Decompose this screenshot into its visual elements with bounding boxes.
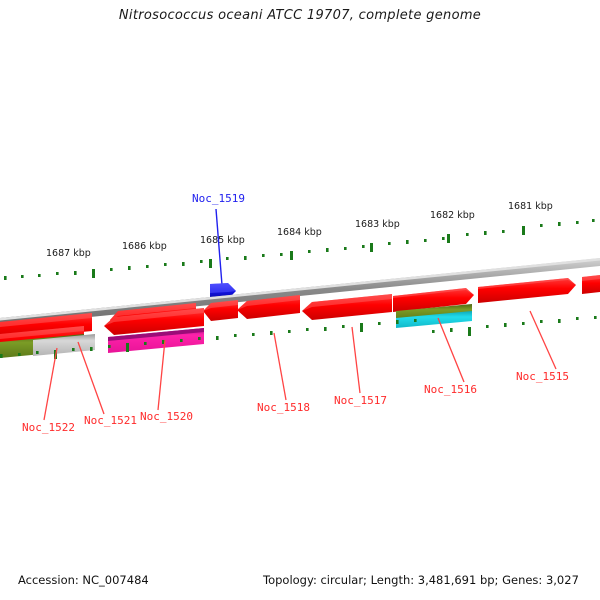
gene-label-noc-1517[interactable]: Noc_1517 — [334, 394, 387, 407]
leader-line-noc-1515 — [530, 311, 556, 369]
leader-line-noc-1518 — [274, 333, 286, 400]
leader-line-noc-1516 — [438, 318, 464, 382]
scale-label-1684: 1684 kbp — [277, 227, 322, 238]
genome-map-canvas: Nitrosococcus oceani ATCC 19707, complet… — [0, 0, 600, 600]
scale-label-1685: 1685 kbp — [200, 235, 245, 246]
leader-line-noc-1517 — [352, 327, 360, 393]
arrow-right-upper-2[interactable] — [478, 278, 576, 303]
scale-label-1682: 1682 kbp — [430, 210, 475, 221]
gene-label-noc-1516[interactable]: Noc_1516 — [424, 383, 477, 396]
scale-label-1686: 1686 kbp — [122, 241, 167, 252]
gene-label-noc-1518[interactable]: Noc_1518 — [257, 401, 310, 414]
gene-label-noc-1521[interactable]: Noc_1521 — [84, 414, 137, 427]
arrow-left-5[interactable] — [302, 294, 392, 320]
genome-stats-text: Topology: circular; Length: 3,481,691 bp… — [263, 573, 579, 587]
leader-line-noc-1520 — [158, 340, 165, 410]
gene-label-noc-1515[interactable]: Noc_1515 — [516, 370, 569, 383]
leader-line-noc-1522 — [44, 348, 57, 420]
genome-diagram: 1687 kbp 1686 kbp 1685 kbp 1684 kbp 1683… — [0, 0, 600, 600]
gene-label-noc-1522[interactable]: Noc_1522 — [22, 421, 75, 434]
leader-line-noc-1519 — [216, 209, 222, 285]
gene-label-noc-1519[interactable]: Noc_1519 — [192, 192, 245, 205]
scale-label-1681: 1681 kbp — [508, 201, 553, 212]
arrow-right-upper-3[interactable] — [582, 275, 600, 294]
leader-line-noc-1521 — [78, 342, 104, 414]
scale-label-1687: 1687 kbp — [46, 248, 91, 259]
accession-text: Accession: NC_007484 — [18, 573, 149, 587]
gene-label-noc-1520[interactable]: Noc_1520 — [140, 410, 193, 423]
scale-label-1683: 1683 kbp — [355, 219, 400, 230]
